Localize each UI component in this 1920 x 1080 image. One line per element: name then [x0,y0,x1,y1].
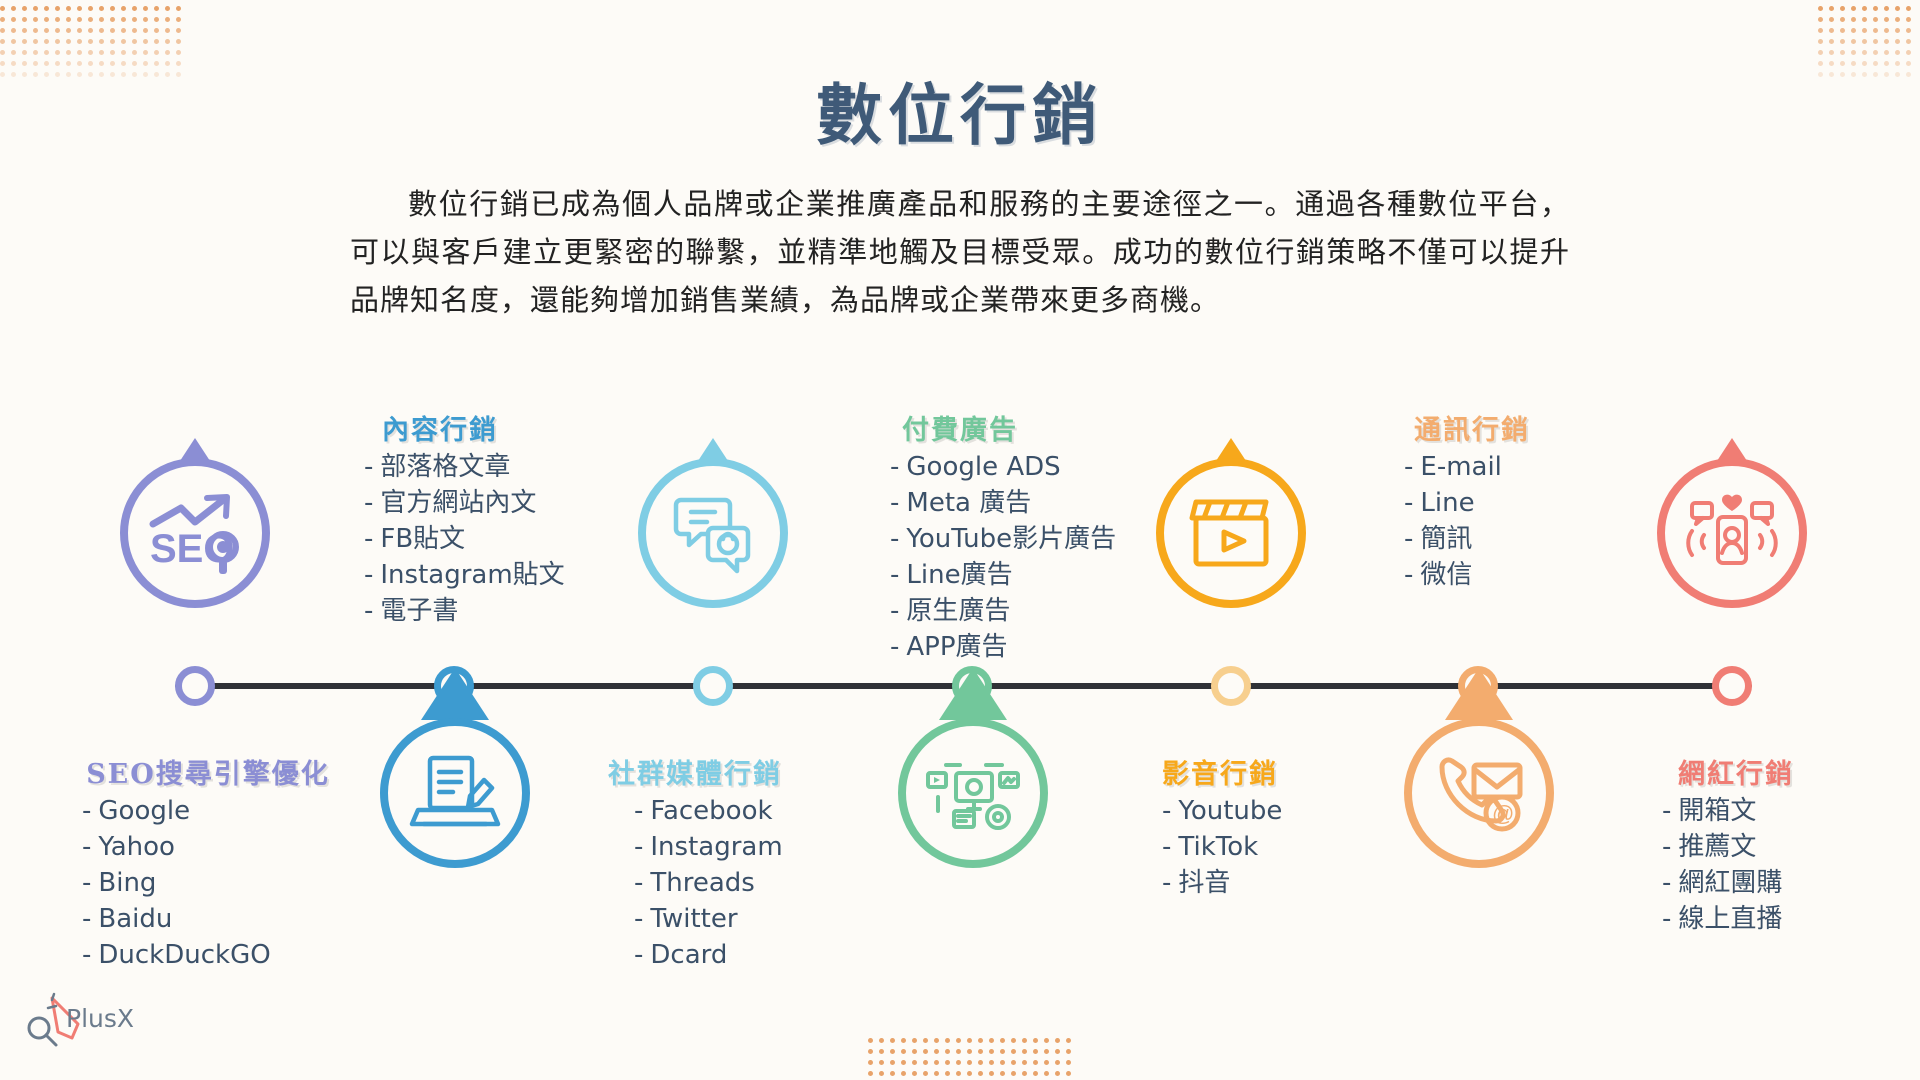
section-title-comm: 通訊行銷 [1390,408,1690,447]
section-social: 社群媒體行銷 -Facebook -Instagram -Threads -Tw… [592,752,892,973]
list-item: -開箱文 [1662,793,1920,829]
section-title-seo: SEO搜尋引擎優化 [48,752,368,791]
list-item: -E-mail [1404,449,1690,485]
chat-bubbles-icon [638,458,788,608]
section-title-social: 社群媒體行銷 [592,752,892,791]
section-title-paid: 付費廣告 [890,408,1190,447]
list-item: -YouTube影片廣告 [890,521,1190,557]
section-seo: SEO搜尋引擎優化 -Google -Yahoo -Bing -Baidu -D… [48,752,368,973]
list-item: -抖音 [1162,865,1440,901]
list-item: -線上直播 [1662,901,1920,937]
list-item: -部落格文章 [364,449,630,485]
section-influencer: 網紅行銷 -開箱文 -推薦文 -網紅團購 -線上直播 [1640,752,1920,937]
section-title-video: 影音行銷 [1140,752,1440,791]
list-item: -推薦文 [1662,829,1920,865]
list-item: -Google ADS [890,449,1190,485]
list-item: -Facebook [634,793,892,829]
list-item: -Twitter [634,901,892,937]
list-item: -電子書 [364,593,630,629]
list-item: -Meta 廣告 [890,485,1190,521]
page-title: 數位行銷 [0,62,1920,158]
pin-paid[interactable] [898,718,1048,868]
ads-megaphone-screen-icon [898,718,1048,868]
section-list-comm: -E-mail -Line -簡訊 -微信 [1390,449,1690,593]
timeline-node-social[interactable] [693,666,733,706]
list-item: -APP廣告 [890,629,1190,665]
plusx-logo-text: PlusX [66,1004,134,1033]
timeline-node-video[interactable] [1211,666,1251,706]
list-item: -Youtube [1162,793,1440,829]
list-item: -Dcard [634,937,892,973]
svg-text:@: @ [1492,801,1514,826]
section-list-social: -Facebook -Instagram -Threads -Twitter -… [592,793,892,973]
list-item: -簡訊 [1404,521,1690,557]
section-paid: 付費廣告 -Google ADS -Meta 廣告 -YouTube影片廣告 -… [890,408,1190,665]
list-item: -Threads [634,865,892,901]
list-item: -Line廣告 [890,557,1190,593]
section-list-seo: -Google -Yahoo -Bing -Baidu -DuckDuckGO [48,793,368,973]
section-list-paid: -Google ADS -Meta 廣告 -YouTube影片廣告 -Line廣… [890,449,1190,665]
intro-paragraph: 數位行銷已成為個人品牌或企業推廣產品和服務的主要途徑之一。通過各種數位平台，可以… [350,180,1570,324]
list-item: -Line [1404,485,1690,521]
list-item: -Bing [82,865,368,901]
document-pen-laptop-icon [380,718,530,868]
list-item: -網紅團購 [1662,865,1920,901]
list-item: -Baidu [82,901,368,937]
list-item: -Yahoo [82,829,368,865]
section-list-influencer: -開箱文 -推薦文 -網紅團購 -線上直播 [1640,793,1920,937]
timeline-node-seo[interactable] [175,666,215,706]
list-item: -TikTok [1162,829,1440,865]
list-item: -Google [82,793,368,829]
pin-seo[interactable]: SEO [120,458,270,608]
pin-content[interactable] [380,718,530,868]
header: 數位行銷 數位行銷已成為個人品牌或企業推廣產品和服務的主要途徑之一。通過各種數位… [0,0,1920,324]
seo-magnifier-icon: SEO [120,458,270,608]
list-item: -原生廣告 [890,593,1190,629]
list-item: -Instagram貼文 [364,557,630,593]
section-content: 內容行銷 -部落格文章 -官方網站內文 -FB貼文 -Instagram貼文 -… [330,408,630,629]
list-item: -Instagram [634,829,892,865]
section-title-influencer: 網紅行銷 [1640,752,1920,791]
pin-social[interactable] [638,458,788,608]
list-item: -DuckDuckGO [82,937,368,973]
section-video: 影音行銷 -Youtube -TikTok -抖音 [1140,752,1440,901]
section-list-content: -部落格文章 -官方網站內文 -FB貼文 -Instagram貼文 -電子書 [330,449,630,629]
list-item: -微信 [1404,557,1690,593]
list-item: -官方網站內文 [364,485,630,521]
section-title-content: 內容行銷 [330,408,630,447]
timeline-node-influencer[interactable] [1712,666,1752,706]
dot-pattern-bottom-center [868,1038,1068,1078]
plusx-logo[interactable]: PlusX [22,986,152,1050]
list-item: -FB貼文 [364,521,630,557]
section-list-video: -Youtube -TikTok -抖音 [1140,793,1440,901]
section-comm: 通訊行銷 -E-mail -Line -簡訊 -微信 [1390,408,1690,593]
